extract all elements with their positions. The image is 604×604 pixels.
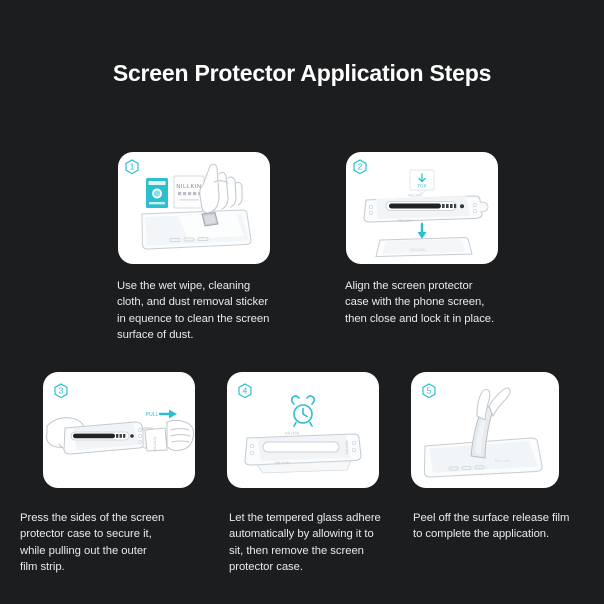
step-card-5: 5 NILLKIN <box>411 372 559 488</box>
svg-text:NILLKIN: NILLKIN <box>285 432 300 436</box>
step-5-badge-number: 5 <box>427 386 432 396</box>
top-tag-label: TOP <box>417 184 426 189</box>
step-2-illustration: 2 TOP <box>346 152 498 264</box>
step-5-illustration: 5 NILLKIN <box>411 372 559 488</box>
step-3-caption: Press the sides of the screen protector … <box>20 510 210 576</box>
step-2-caption: Align the screen protector case with the… <box>345 278 545 327</box>
svg-text:NILLKIN: NILLKIN <box>152 436 157 451</box>
step-card-4: 4 <box>227 372 379 488</box>
step-1-caption: Use the wet wipe, cleaning cloth, and du… <box>117 278 317 344</box>
step-3-illustration: 3 <box>43 372 195 488</box>
step-1-illustration: 1 NILLKIN <box>118 152 270 264</box>
svg-text:NILLKIN: NILLKIN <box>408 194 422 198</box>
step-4-caption: Let the tempered glass adhere automatica… <box>229 510 424 576</box>
step-4-badge-number: 4 <box>243 386 248 396</box>
step-5-caption: Peel off the surface release film to com… <box>413 510 603 543</box>
step-3-badge-number: 3 <box>59 386 64 396</box>
svg-text:NILLKIN: NILLKIN <box>345 440 349 454</box>
step-4-illustration: 4 <box>227 372 379 488</box>
step-card-2: 2 TOP <box>346 152 498 264</box>
instruction-infographic: Screen Protector Application Steps 1 NIL… <box>0 0 604 604</box>
svg-text:NILLKIN: NILLKIN <box>410 247 425 252</box>
alarm-clock-icon <box>292 396 315 426</box>
svg-text:NILLKIN: NILLKIN <box>398 219 412 223</box>
step-card-1: 1 NILLKIN <box>118 152 270 264</box>
svg-text:PULL: PULL <box>146 412 159 418</box>
step-card-3: 3 <box>43 372 195 488</box>
step-2-badge-number: 2 <box>358 162 363 172</box>
step-1-badge-number: 1 <box>130 162 135 172</box>
page-title: Screen Protector Application Steps <box>0 60 604 87</box>
svg-text:NILLKIN: NILLKIN <box>176 184 201 190</box>
pull-arrow-icon: PULL <box>146 410 177 419</box>
svg-text:NILLKIN: NILLKIN <box>495 458 510 463</box>
